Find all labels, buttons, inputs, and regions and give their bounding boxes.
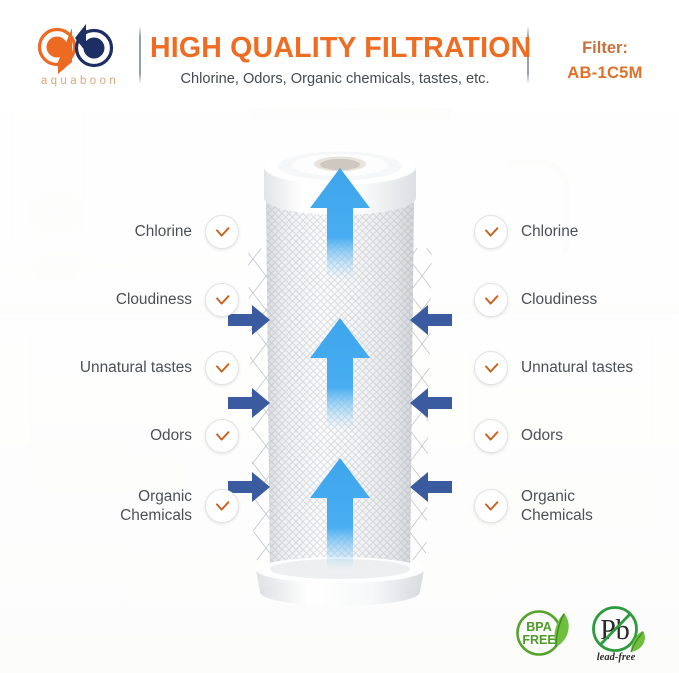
header-bar: aquaboon HIGH QUALITY FILTRATION Chlorin… [0,0,679,108]
feature-label: Unnatural tastes [80,358,192,377]
feature-label: Chlorine [521,222,578,241]
product-infographic: aquaboon HIGH QUALITY FILTRATION Chlorin… [0,0,679,673]
feature-right-odors[interactable]: Odors [474,419,563,453]
aquaboon-droplet-logo [28,22,132,74]
feature-label: Chlorine [135,222,192,241]
brand-wordmark: aquaboon [28,75,132,87]
feature-right-unnatural-tastes[interactable]: Unnatural tastes [474,351,633,385]
bpa-free-badge: BPA FREE [512,605,574,661]
check-circle-icon [474,215,508,249]
page-title: HIGH QUALITY FILTRATION [150,34,520,64]
check-circle-icon [205,351,239,385]
check-circle-icon [205,215,239,249]
brand-logo: aquaboon [28,22,132,96]
lead-free-badge: Pb lead-free [586,603,652,663]
bpa-line1: BPA [526,620,551,634]
feature-right-chlorine[interactable]: Chlorine [474,215,578,249]
feature-right-organic-chemicals[interactable]: Organic Chemicals [474,487,593,525]
page-subtitle: Chlorine, Odors, Organic chemicals, tast… [150,71,520,87]
feature-left-organic-chemicals[interactable]: Organic Chemicals [120,487,239,525]
header-headline-block: HIGH QUALITY FILTRATION Chlorine, Odors,… [150,34,520,87]
check-circle-icon [474,351,508,385]
inlet-arrow-right-1 [410,305,452,340]
feature-label: Cloudiness [116,290,192,309]
feature-label: Odors [521,426,563,445]
feature-label: Odors [150,426,192,445]
check-circle-icon [474,419,508,453]
water-flow-arrow-up-bottom [306,458,374,575]
check-circle-icon [205,489,239,523]
bpa-line2: FREE [522,633,555,647]
check-circle-icon [205,283,239,317]
feature-label: Organic Chemicals [521,487,593,525]
inlet-arrow-right-3 [410,472,452,507]
water-flow-arrow-up-top [306,168,374,285]
feature-label: Organic Chemicals [120,487,192,525]
feature-left-odors[interactable]: Odors [150,419,239,453]
feature-right-cloudiness[interactable]: Cloudiness [474,283,597,317]
feature-left-chlorine[interactable]: Chlorine [135,215,239,249]
feature-label: Cloudiness [521,290,597,309]
header-divider-left [139,26,141,84]
check-circle-icon [474,283,508,317]
feature-left-unnatural-tastes[interactable]: Unnatural tastes [80,351,239,385]
inlet-arrow-left-2 [228,388,270,423]
feature-label: Unnatural tastes [521,358,633,377]
check-circle-icon [474,489,508,523]
filter-model-block: Filter: AB-1C5M [538,36,672,86]
check-circle-icon [205,419,239,453]
inlet-arrow-right-2 [410,388,452,423]
filter-label: Filter: [538,36,672,61]
lead-free-caption: lead-free [597,652,636,663]
feature-left-cloudiness[interactable]: Cloudiness [116,283,239,317]
certification-badges: BPA FREE Pb lead-free [512,600,662,666]
water-flow-arrow-up-middle [306,318,374,435]
filter-model: AB-1C5M [538,61,672,86]
